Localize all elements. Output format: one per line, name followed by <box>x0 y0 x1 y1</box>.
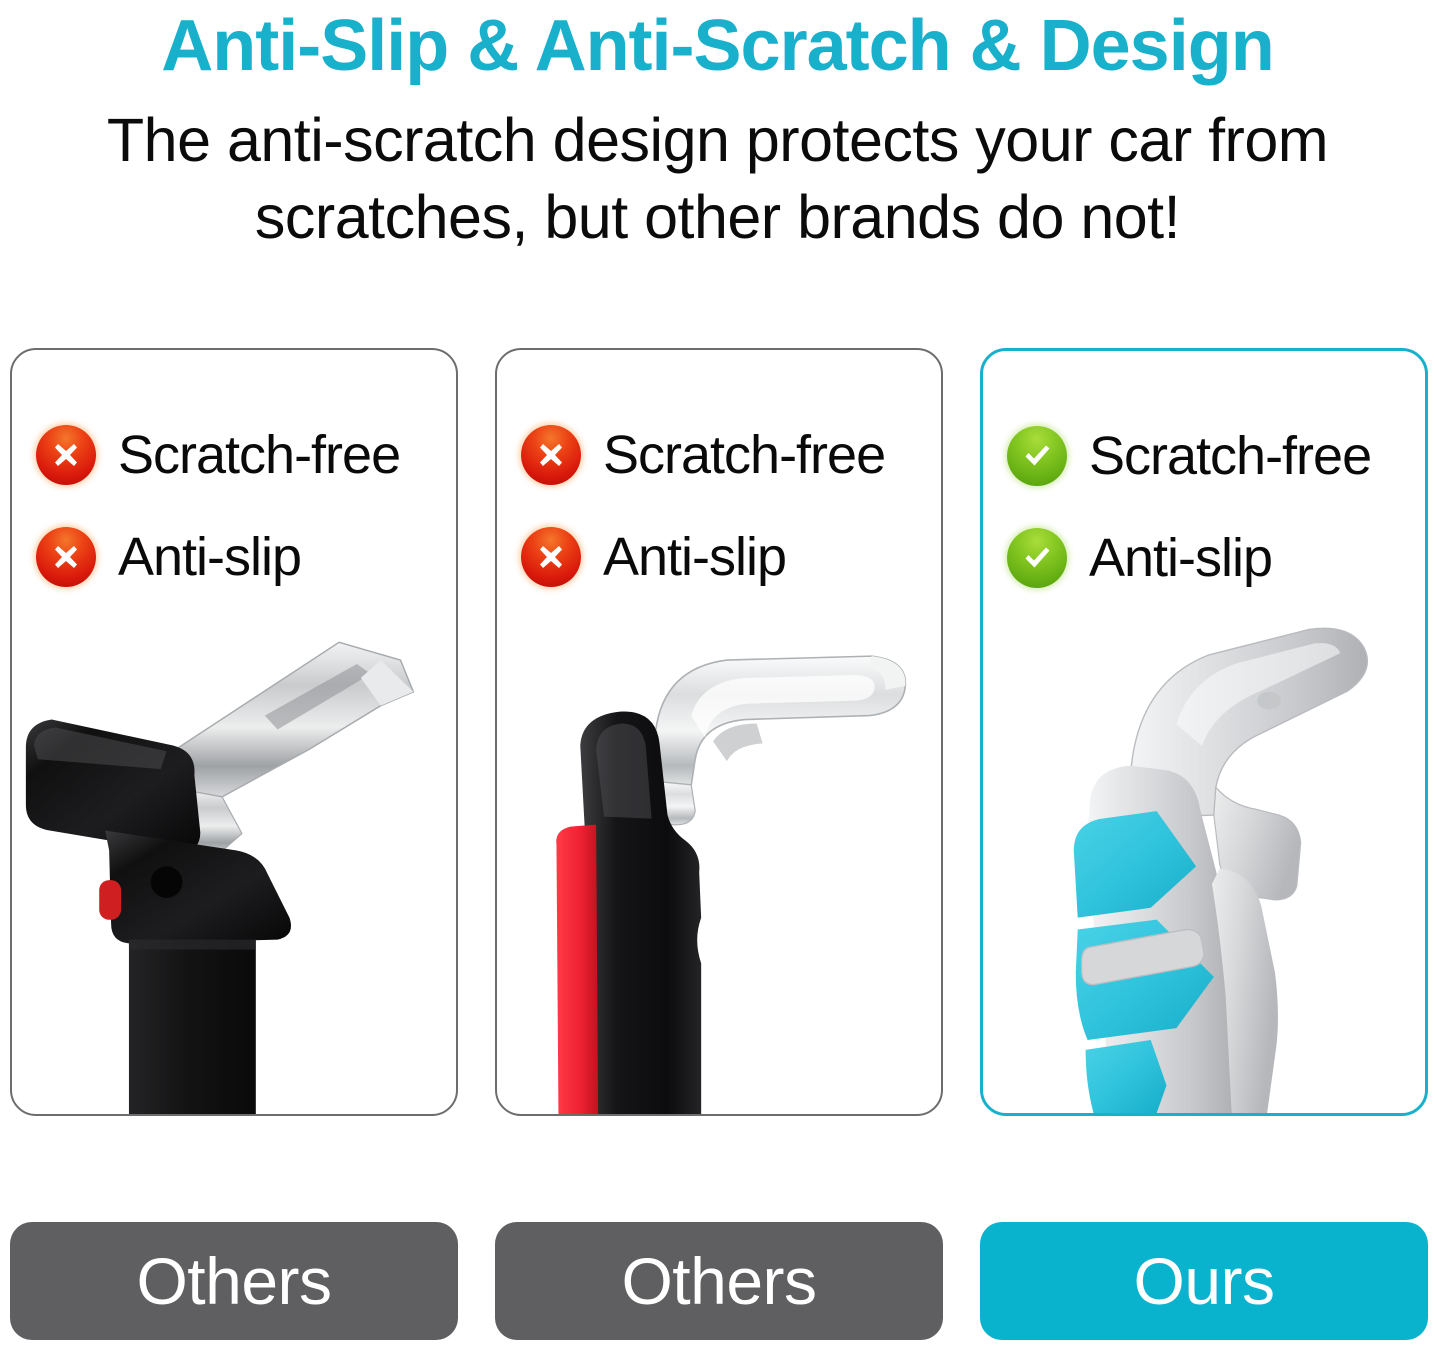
check-circle-icon <box>1007 528 1067 588</box>
feature-row: Scratch-free <box>36 405 442 505</box>
check-circle-icon <box>1007 426 1067 486</box>
label-bar-others-2[interactable]: Others <box>495 1222 943 1340</box>
cross-circle-icon <box>521 425 581 485</box>
comparison-card-ours[interactable]: Scratch-free Anti-slip <box>980 348 1428 1116</box>
comparison-card-others-1[interactable]: Scratch-free Anti-slip <box>10 348 458 1116</box>
feature-label: Scratch-free <box>603 426 885 484</box>
label-bar-text: Others <box>136 1248 331 1314</box>
product-image-gray-cyan-safety-hammer <box>983 621 1425 1113</box>
label-bar-ours[interactable]: Ours <box>980 1222 1428 1340</box>
cross-circle-icon <box>36 425 96 485</box>
feature-label: Anti-slip <box>118 528 301 586</box>
feature-row: Scratch-free <box>521 405 927 505</box>
comparison-cards: Scratch-free Anti-slip <box>10 348 1428 1116</box>
feature-list: Scratch-free Anti-slip <box>1007 406 1411 608</box>
label-bar-text: Others <box>621 1248 816 1314</box>
product-image-black-safety-hammer <box>12 620 456 1114</box>
label-bars: Others Others Ours <box>10 1222 1428 1340</box>
cross-circle-icon <box>521 527 581 587</box>
feature-label: Scratch-free <box>1089 427 1371 485</box>
feature-list: Scratch-free Anti-slip <box>521 405 927 607</box>
feature-list: Scratch-free Anti-slip <box>36 405 442 607</box>
comparison-card-others-2[interactable]: Scratch-free Anti-slip <box>495 348 943 1116</box>
feature-label: Anti-slip <box>603 528 786 586</box>
product-image-black-red-safety-hammer <box>497 620 941 1114</box>
cross-circle-icon <box>36 527 96 587</box>
feature-row: Scratch-free <box>1007 406 1411 506</box>
feature-label: Anti-slip <box>1089 529 1272 587</box>
label-bar-text: Ours <box>1133 1248 1274 1314</box>
feature-row: Anti-slip <box>36 507 442 607</box>
page-subtitle: The anti-scratch design protects your ca… <box>14 88 1421 256</box>
label-bar-others-1[interactable]: Others <box>10 1222 458 1340</box>
feature-row: Anti-slip <box>1007 508 1411 608</box>
header: Anti-Slip & Anti-Scratch & Design The an… <box>0 0 1435 256</box>
feature-label: Scratch-free <box>118 426 400 484</box>
feature-row: Anti-slip <box>521 507 927 607</box>
page-title: Anti-Slip & Anti-Scratch & Design <box>14 0 1421 88</box>
